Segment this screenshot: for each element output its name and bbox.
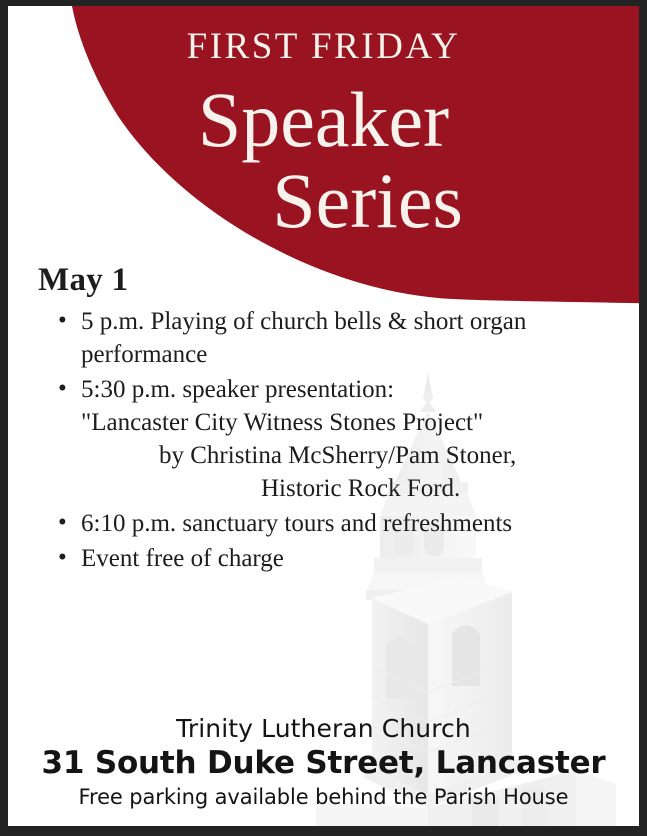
flyer-title-series: Series bbox=[8, 162, 639, 240]
flyer-body: May 1 5 p.m. Playing of church bells & s… bbox=[8, 261, 639, 577]
flyer-kicker-first-friday: FIRST FRIDAY bbox=[8, 28, 639, 65]
agenda-item: 6:10 p.m. sanctuary tours and refreshmen… bbox=[58, 507, 633, 540]
parking-note: Free parking available behind the Parish… bbox=[8, 785, 639, 810]
venue-address: 31 South Duke Street, Lancaster bbox=[8, 745, 639, 782]
agenda-item-continuation: performance bbox=[81, 338, 633, 371]
agenda-list: 5 p.m. Playing of church bells & short o… bbox=[8, 305, 639, 575]
banner-text-group: FIRST FRIDAY Speaker Series bbox=[8, 6, 639, 256]
agenda-item-main: 5:30 p.m. speaker presentation: bbox=[81, 373, 633, 406]
agenda-item: 5:30 p.m. speaker presentation: "Lancast… bbox=[58, 373, 633, 505]
agenda-item: 5 p.m. Playing of church bells & short o… bbox=[58, 305, 633, 371]
agenda-item-main: 6:10 p.m. sanctuary tours and refreshmen… bbox=[81, 507, 633, 540]
flyer-outer-frame: FIRST FRIDAY Speaker Series May 1 5 p.m.… bbox=[0, 0, 647, 836]
agenda-item: Event free of charge bbox=[58, 542, 633, 575]
flyer-page: FIRST FRIDAY Speaker Series May 1 5 p.m.… bbox=[8, 6, 639, 826]
venue-name: Trinity Lutheran Church bbox=[8, 714, 639, 744]
agenda-item-main: 5 p.m. Playing of church bells & short o… bbox=[81, 305, 633, 338]
flyer-title-speaker: Speaker bbox=[8, 81, 639, 159]
agenda-item-continuation: Historic Rock Ford. bbox=[81, 472, 633, 505]
agenda-item-main: Event free of charge bbox=[81, 542, 633, 575]
flyer-footer: Trinity Lutheran Church 31 South Duke St… bbox=[8, 714, 639, 810]
agenda-item-continuation: "Lancaster City Witness Stones Project" bbox=[81, 406, 633, 439]
event-date-heading: May 1 bbox=[38, 261, 639, 301]
agenda-item-continuation: by Christina McSherry/Pam Stoner, bbox=[81, 439, 633, 472]
